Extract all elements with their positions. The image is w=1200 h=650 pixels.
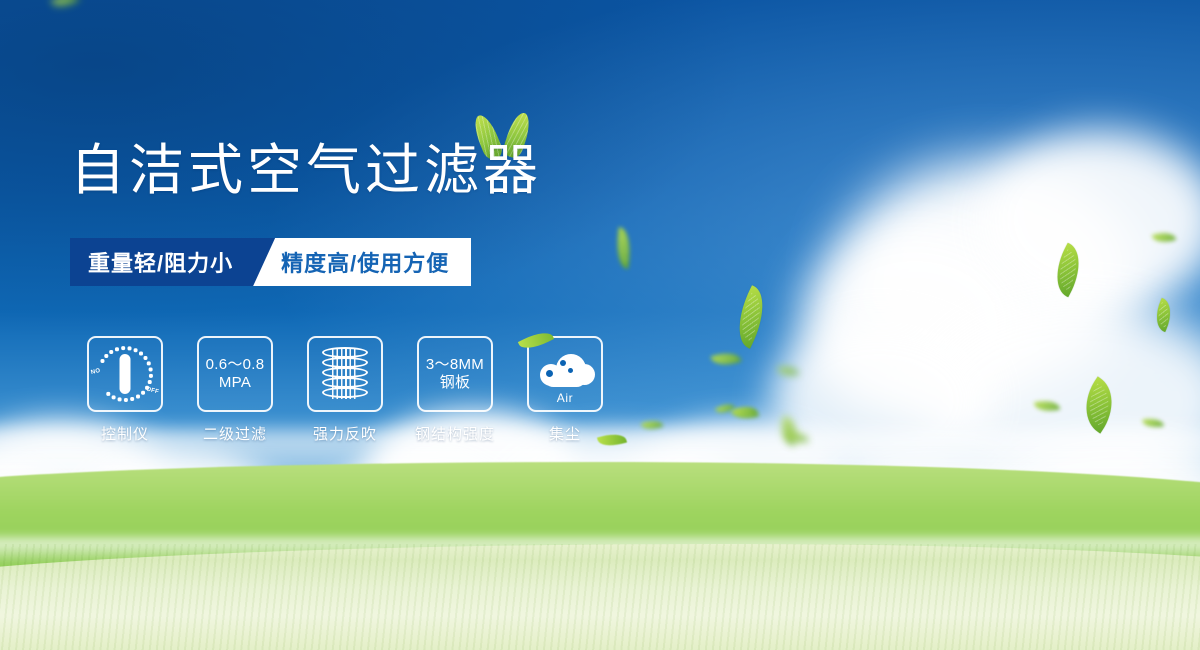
feature-icon-box: 0.6～0.8 MPA — [197, 336, 273, 412]
air-cloud-icon: Air — [534, 346, 596, 402]
steel-plate-text-icon: 3～8MM 钢板 — [426, 356, 484, 391]
gauge-needle — [120, 354, 131, 394]
feature-list: NO OFF 控制仪 0.6～0.8 MPA 二级过滤 — [70, 336, 620, 444]
feature-item-dust-collection[interactable]: Air 集尘 — [510, 336, 620, 444]
gauge-icon: NO OFF — [92, 343, 158, 405]
page-title: 自洁式空气过滤器 — [70, 143, 542, 198]
coil-blowback-icon — [319, 345, 371, 403]
ribbon-left-text: 重量轻/阻力小 — [70, 238, 253, 286]
feature-label: 强力反吹 — [313, 423, 377, 444]
air-text-label: Air — [534, 391, 596, 405]
feature-label: 控制仪 — [101, 423, 149, 444]
feature-icon-box: Air — [527, 336, 603, 412]
ribbon-right-text: 精度高/使用方便 — [275, 238, 471, 286]
pressure-text-icon: 0.6～0.8 MPA — [206, 356, 265, 391]
feature-label: 集尘 — [549, 423, 581, 444]
feature-item-two-stage-filter[interactable]: 0.6～0.8 MPA 二级过滤 — [180, 336, 290, 444]
feature-item-steel-strength[interactable]: 3～8MM 钢板 钢结构强度 — [400, 336, 510, 444]
banner-content: 自洁式空气过滤器 重量轻/阻力小 精度高/使用方便 — [0, 0, 1200, 650]
feature-icon-box: 3～8MM 钢板 — [417, 336, 493, 412]
ribbon-slant-divider — [253, 238, 275, 286]
product-banner: 自洁式空气过滤器 重量轻/阻力小 精度高/使用方便 — [0, 0, 1200, 650]
subtitle-ribbon: 重量轻/阻力小 精度高/使用方便 — [70, 238, 471, 286]
feature-icon-box: NO OFF — [87, 336, 163, 412]
feature-label: 钢结构强度 — [415, 423, 495, 444]
feature-icon-box — [307, 336, 383, 412]
feature-item-blowback[interactable]: 强力反吹 — [290, 336, 400, 444]
feature-item-controller[interactable]: NO OFF 控制仪 — [70, 336, 180, 444]
label-leaf-icon — [597, 431, 627, 449]
feature-label: 二级过滤 — [203, 423, 267, 444]
